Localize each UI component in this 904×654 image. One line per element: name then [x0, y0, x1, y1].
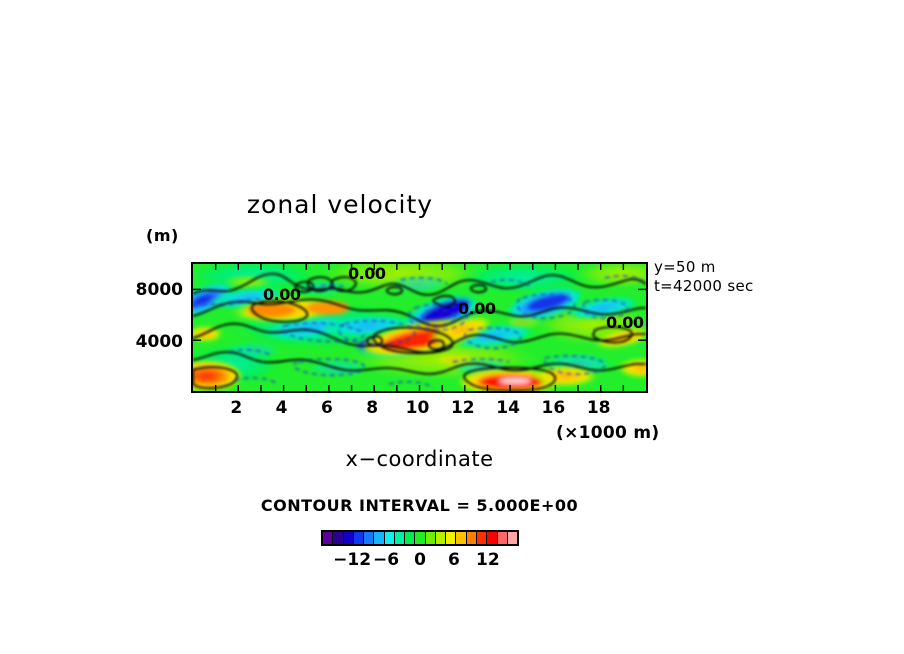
contour-plot-canvas[interactable]: 0.000.000.000.00 — [191, 262, 648, 393]
x-tick-label: 6 — [321, 398, 333, 418]
x-tick-label: 2 — [230, 398, 242, 418]
contour-label-zero: 0.00 — [458, 299, 495, 318]
x-tick-label: 14 — [496, 398, 520, 418]
x-axis-tick-labels: 24681012141618 — [191, 398, 648, 422]
colorbar-swatch — [426, 532, 436, 544]
x-tick-label: 12 — [451, 398, 475, 418]
colorbar-swatch — [446, 532, 456, 544]
x-tick-label: 10 — [406, 398, 430, 418]
colorbar-swatch — [385, 532, 395, 544]
colorbar-tick-label: −6 — [373, 550, 399, 570]
colorbar-tick-label: −12 — [333, 550, 371, 570]
colorbar-tick-label: 0 — [414, 550, 426, 570]
y-tick-8000: 8000 — [123, 280, 183, 300]
y-axis-tick-labels: 8000 4000 — [121, 262, 183, 393]
x-tick-label: 18 — [587, 398, 611, 418]
colorbar-swatch — [477, 532, 487, 544]
x-axis-title: x−coordinate — [191, 447, 648, 471]
colorbar-swatch — [344, 532, 354, 544]
colorbar-swatch — [333, 532, 343, 544]
contour-label-zero: 0.00 — [606, 313, 643, 332]
colorbar-tick-labels: −12−60612 — [321, 550, 519, 572]
colorbar-swatch — [487, 532, 497, 544]
colorbar-tick-label: 12 — [476, 550, 500, 570]
colorbar-swatch — [364, 532, 374, 544]
x-axis-units-label: (×1000 m) — [556, 423, 659, 443]
x-tick-label: 8 — [366, 398, 378, 418]
colorbar-swatch — [456, 532, 466, 544]
colorbar[interactable] — [321, 530, 519, 546]
colorbar-swatch — [415, 532, 425, 544]
contour-interval-text: CONTOUR INTERVAL = 5.000E+00 — [191, 496, 648, 515]
colorbar-swatch — [498, 532, 508, 544]
annotation-time: t=42000 sec — [654, 277, 754, 296]
colorbar-swatch — [374, 532, 384, 544]
contour-label-zero: 0.00 — [263, 285, 300, 304]
colorbar-swatch — [395, 532, 405, 544]
colorbar-swatch — [508, 532, 517, 544]
contour-field — [193, 264, 646, 391]
plot-annotations: y=50 m t=42000 sec — [654, 258, 754, 296]
annotation-y-slice: y=50 m — [654, 258, 754, 277]
page-title: zonal velocity — [0, 190, 680, 219]
colorbar-swatch — [436, 532, 446, 544]
contour-label-zero: 0.00 — [348, 264, 385, 283]
y-tick-4000: 4000 — [123, 332, 183, 352]
colorbar-swatch — [354, 532, 364, 544]
x-tick-label: 16 — [542, 398, 566, 418]
colorbar-swatch — [467, 532, 477, 544]
y-axis-units-label: (m) — [146, 226, 179, 245]
x-tick-label: 4 — [276, 398, 288, 418]
colorbar-swatch — [405, 532, 415, 544]
colorbar-swatch — [323, 532, 333, 544]
colorbar-tick-label: 6 — [448, 550, 460, 570]
